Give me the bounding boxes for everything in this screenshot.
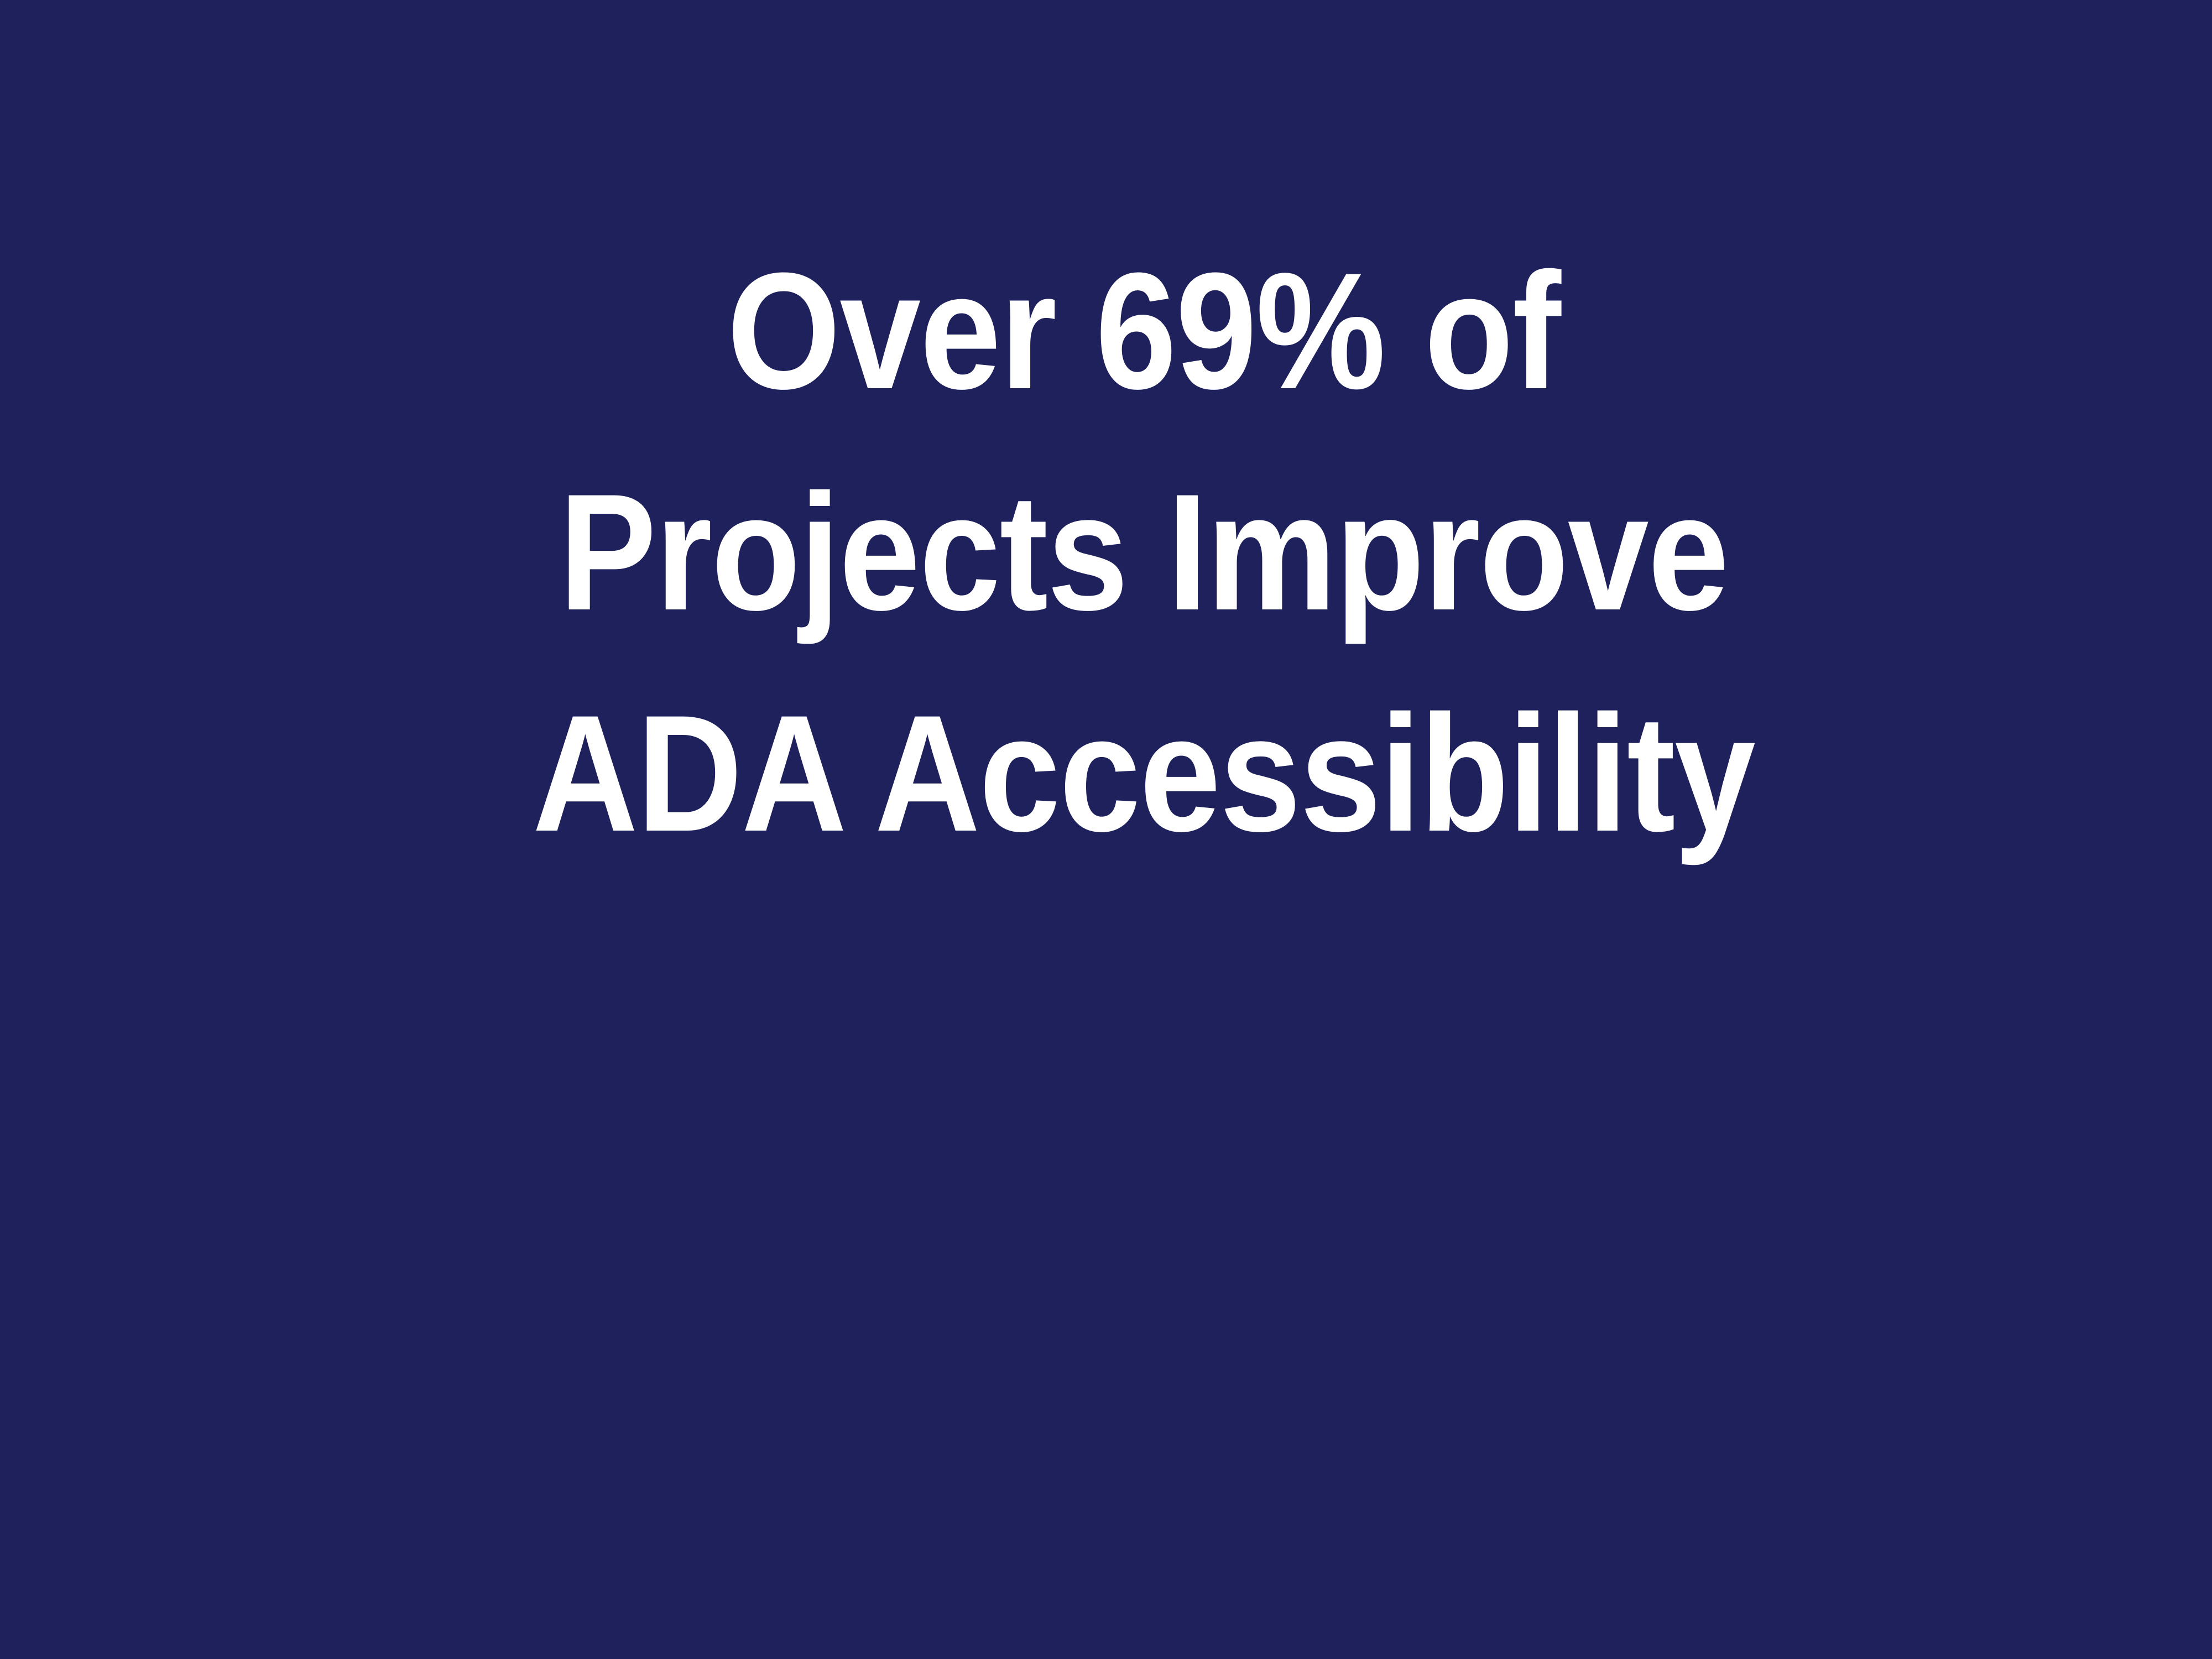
slide-canvas: Over 69% of Projects Improve ADA Accessi… <box>0 0 2212 1659</box>
headline-line-1: Over 69% of <box>204 220 2084 441</box>
headline-line-2: Projects Improve <box>204 441 2084 662</box>
headline-block: Over 69% of Projects Improve ADA Accessi… <box>0 220 2212 884</box>
headline-line-3: ADA Accessibility <box>204 662 2084 884</box>
